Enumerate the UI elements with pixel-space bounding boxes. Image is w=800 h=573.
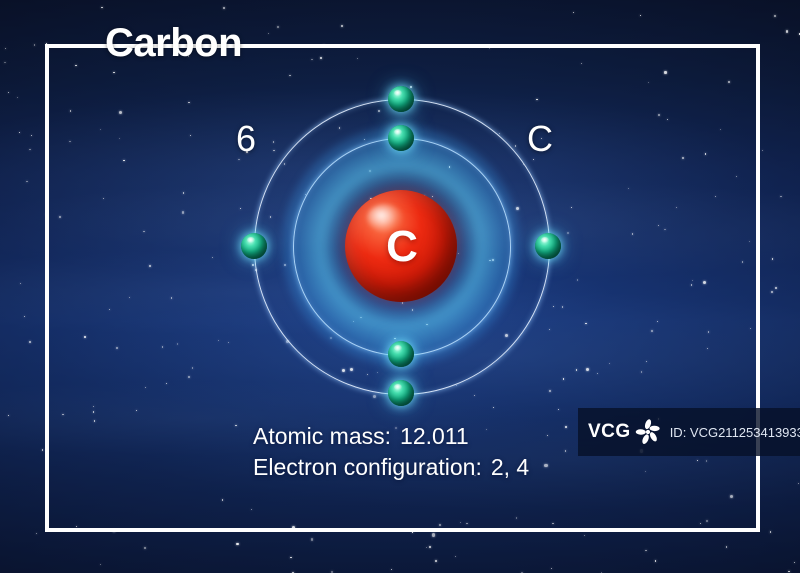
- info-block: Atomic mass:12.011 Electron configuratio…: [253, 421, 529, 483]
- atomic-mass-value: 12.011: [400, 423, 469, 449]
- watermark-id: ID: VCG211253413933: [670, 425, 800, 440]
- electron-configuration-value: 2, 4: [491, 454, 529, 480]
- electron-configuration-row: Electron configuration:2, 4: [253, 452, 529, 483]
- element-symbol-label: C: [527, 118, 553, 160]
- electron: [388, 380, 414, 406]
- electron-configuration-label: Electron configuration:: [253, 454, 482, 480]
- electron: [388, 86, 414, 112]
- nucleus: C: [345, 190, 457, 302]
- nucleus-symbol: C: [345, 190, 457, 302]
- atomic-number-label: 6: [236, 118, 256, 160]
- pinwheel-icon: [633, 417, 663, 447]
- watermark: VCG ID: VCG211253413933: [578, 408, 800, 456]
- vcg-wordmark: VCG: [588, 421, 631, 443]
- electron: [535, 233, 561, 259]
- electron: [388, 125, 414, 151]
- atomic-mass-row: Atomic mass:12.011: [253, 421, 529, 452]
- atom-model: C: [0, 0, 800, 573]
- atomic-mass-label: Atomic mass:: [253, 423, 391, 449]
- atom-diagram-poster: Carbon C 6 C Atomic mass:12.011 Electron…: [0, 0, 800, 573]
- vcg-logo: VCG: [588, 417, 663, 447]
- electron: [388, 341, 414, 367]
- electron: [241, 233, 267, 259]
